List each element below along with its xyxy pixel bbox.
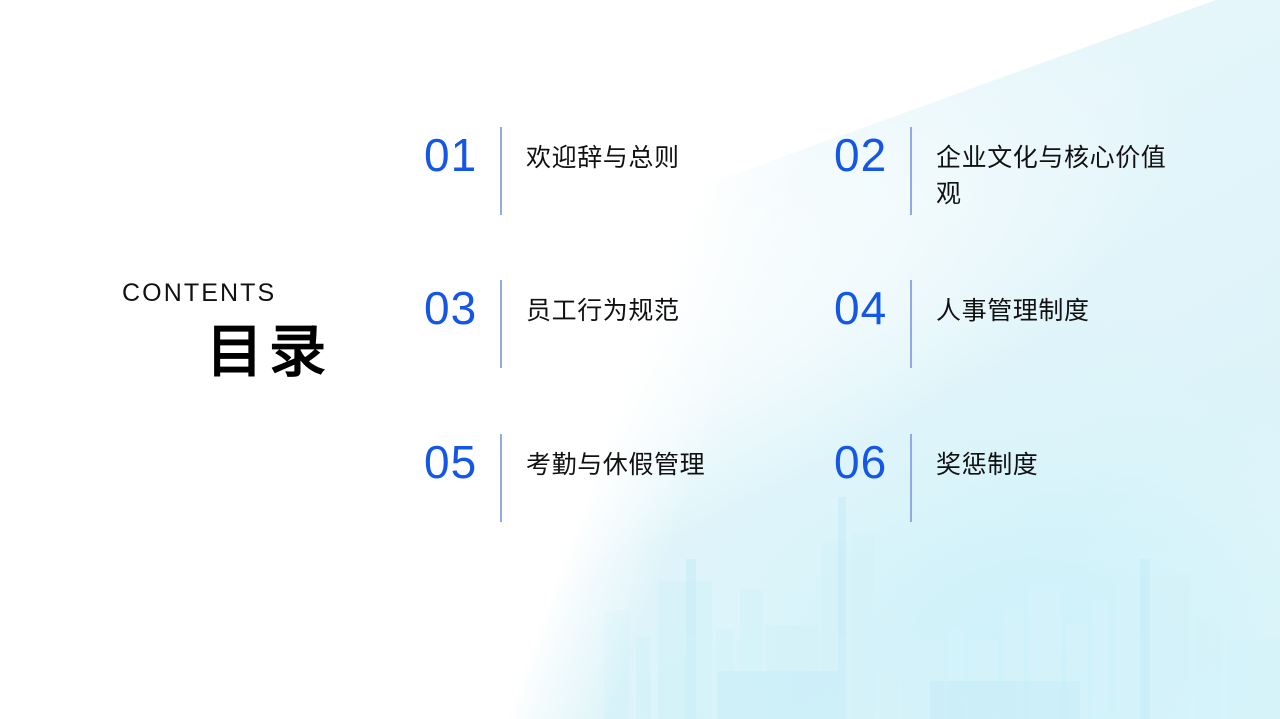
contents-number: 04 [834, 285, 910, 331]
contents-item-06[interactable]: 06 奖惩制度 [834, 439, 1224, 592]
contents-label: 欢迎辞与总则 [526, 132, 680, 176]
page-title: CONTENTS 目录 [122, 281, 422, 384]
contents-item-01[interactable]: 01 欢迎辞与总则 [424, 132, 834, 285]
contents-item-05[interactable]: 05 考勤与休假管理 [424, 439, 834, 592]
contents-item-03[interactable]: 03 员工行为规范 [424, 285, 834, 438]
contents-divider [500, 434, 502, 522]
contents-label: 考勤与休假管理 [526, 439, 705, 483]
contents-label: 员工行为规范 [526, 285, 680, 329]
slide-canvas: CONTENTS 目录 01 欢迎辞与总则 02 企业文化与核心价值观 03 员… [0, 0, 1280, 719]
contents-number: 05 [424, 439, 500, 485]
contents-label: 人事管理制度 [936, 285, 1090, 329]
contents-divider [500, 127, 502, 215]
contents-label: 企业文化与核心价值观 [936, 132, 1186, 213]
contents-divider [500, 280, 502, 368]
contents-divider [910, 280, 912, 368]
title-chinese: 目录 [122, 322, 422, 384]
contents-number: 06 [834, 439, 910, 485]
contents-number: 01 [424, 132, 500, 178]
contents-divider [910, 127, 912, 215]
contents-item-04[interactable]: 04 人事管理制度 [834, 285, 1224, 438]
contents-number: 03 [424, 285, 500, 331]
contents-number: 02 [834, 132, 910, 178]
title-english: CONTENTS [122, 281, 422, 306]
contents-grid: 01 欢迎辞与总则 02 企业文化与核心价值观 03 员工行为规范 04 人事管… [424, 132, 1224, 592]
contents-item-02[interactable]: 02 企业文化与核心价值观 [834, 132, 1224, 285]
contents-label: 奖惩制度 [936, 439, 1038, 483]
contents-divider [910, 434, 912, 522]
